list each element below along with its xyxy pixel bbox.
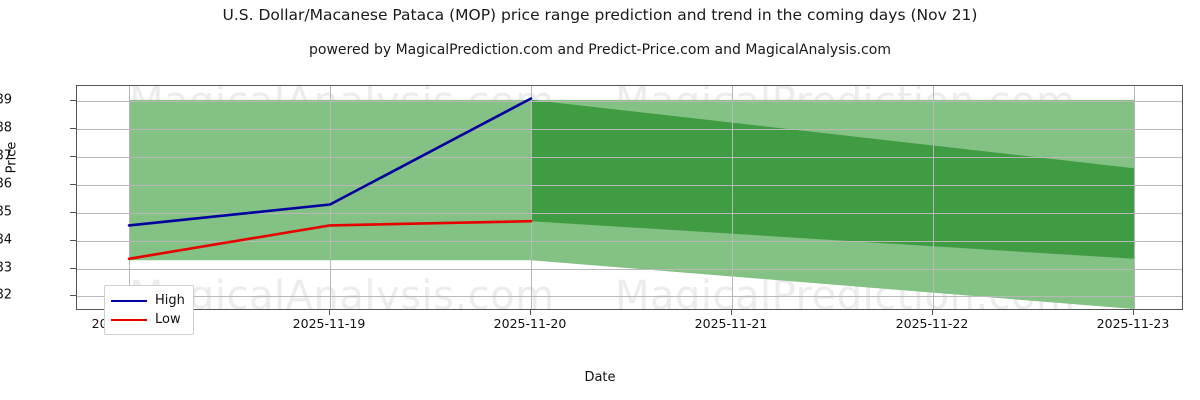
y-tick-label: 7.84 bbox=[0, 232, 12, 247]
chart-legend[interactable]: High Low bbox=[104, 285, 194, 335]
x-tick-mark bbox=[530, 310, 531, 315]
legend-swatch-high bbox=[111, 300, 147, 302]
x-tick-mark bbox=[1133, 310, 1134, 315]
x-tick-label: 2025-11-23 bbox=[1097, 316, 1170, 331]
x-tick-label: 2025-11-20 bbox=[494, 316, 567, 331]
series-line-low bbox=[129, 221, 531, 259]
y-tick-label: 7.86 bbox=[0, 176, 12, 191]
x-tick-label: 2025-11-19 bbox=[293, 316, 366, 331]
x-tick-mark bbox=[329, 310, 330, 315]
y-tick-label: 7.87 bbox=[0, 149, 12, 164]
legend-item-high: High bbox=[111, 291, 185, 310]
chart-page: U.S. Dollar/Macanese Pataca (MOP) price … bbox=[0, 0, 1200, 400]
y-tick-label: 7.85 bbox=[0, 204, 12, 219]
legend-swatch-low bbox=[111, 319, 147, 321]
series-layer bbox=[77, 86, 1182, 309]
legend-label-high: High bbox=[155, 293, 185, 308]
series-line-high bbox=[129, 99, 531, 226]
chart-subtitle: powered by MagicalPrediction.com and Pre… bbox=[0, 42, 1200, 58]
x-tick-mark bbox=[932, 310, 933, 315]
plot-area: MagicalAnalysis.comMagicalPrediction.com… bbox=[76, 85, 1183, 310]
y-tick-label: 7.88 bbox=[0, 121, 12, 136]
legend-item-low: Low bbox=[111, 310, 185, 329]
chart-title: U.S. Dollar/Macanese Pataca (MOP) price … bbox=[0, 6, 1200, 24]
x-tick-label: 2025-11-22 bbox=[896, 316, 969, 331]
y-tick-label: 7.82 bbox=[0, 288, 12, 303]
x-axis-label: Date bbox=[0, 370, 1200, 385]
legend-label-low: Low bbox=[155, 312, 181, 327]
x-tick-label: 2025-11-21 bbox=[695, 316, 768, 331]
x-tick-mark bbox=[731, 310, 732, 315]
y-tick-label: 7.83 bbox=[0, 260, 12, 275]
plot-inner: MagicalAnalysis.comMagicalPrediction.com… bbox=[77, 86, 1182, 309]
y-tick-label: 7.89 bbox=[0, 93, 12, 108]
